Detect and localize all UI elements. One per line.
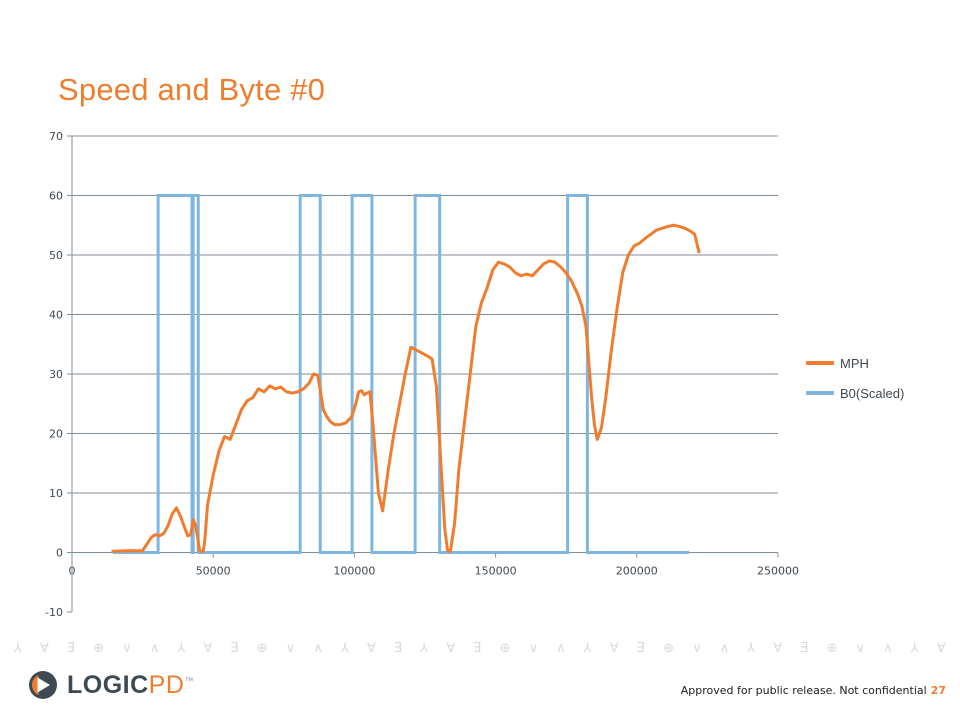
deco-glyph: ⅄ bbox=[584, 642, 592, 655]
x-tick-label: 250000 bbox=[757, 565, 799, 578]
deco-glyph: ∀ bbox=[610, 642, 619, 655]
deco-glyph: ∀ bbox=[40, 642, 49, 655]
x-tick-label: 200000 bbox=[616, 565, 658, 578]
deco-glyph: ∨ bbox=[122, 642, 132, 655]
y-tick-label: 60 bbox=[49, 190, 63, 203]
deco-glyph: ∨ bbox=[529, 642, 539, 655]
deco-glyph: ⊕ bbox=[500, 642, 511, 655]
deco-glyph: ∨ bbox=[856, 642, 866, 655]
deco-glyph: ∀ bbox=[367, 642, 376, 655]
slide: Speed and Byte #0 0500001000001500002000… bbox=[0, 0, 960, 720]
footer-note-text: Approved for public release. Not confide… bbox=[681, 684, 927, 697]
deco-glyph: ∀ bbox=[937, 642, 946, 655]
footer-note: Approved for public release. Not confide… bbox=[681, 684, 946, 697]
deco-glyph: ⅄ bbox=[911, 642, 919, 655]
deco-glyph: ⅄ bbox=[747, 642, 755, 655]
chart-y-axis-labels: -10010203040506070 bbox=[45, 130, 63, 619]
deco-glyph: ⊕ bbox=[93, 642, 104, 655]
deco-glyph: ∧ bbox=[556, 642, 566, 655]
deco-glyph: Ǝ bbox=[800, 642, 808, 655]
chart-container: 050000100000150000200000250000 -10010203… bbox=[0, 0, 960, 630]
deco-glyph: Ǝ bbox=[231, 642, 239, 655]
x-tick-label: 150000 bbox=[475, 565, 517, 578]
deco-glyph: ∧ bbox=[883, 642, 893, 655]
deco-glyph: ∀ bbox=[446, 642, 455, 655]
deco-glyph: ∀ bbox=[773, 642, 782, 655]
deco-glyph: Ǝ bbox=[394, 642, 402, 655]
chart-x-axis-labels: 050000100000150000200000250000 bbox=[69, 565, 800, 578]
deco-glyph: ∀ bbox=[204, 642, 213, 655]
y-tick-label: 30 bbox=[49, 368, 63, 381]
deco-glyph: Ǝ bbox=[473, 642, 481, 655]
deco-glyph: ⅄ bbox=[341, 642, 349, 655]
deco-glyph: ∨ bbox=[692, 642, 702, 655]
deco-glyph: ⊕ bbox=[663, 642, 674, 655]
y-tick-label: 0 bbox=[56, 547, 63, 560]
logo: LOGICPD™ bbox=[28, 670, 194, 700]
decorative-glyph-band: ⅄∀Ǝ⊕∨∧⅄∀Ǝ⊕∨∧⅄∀Ǝ⅄∀Ǝ⊕∨∧⅄∀Ǝ⊕∨∧⅄∀Ǝ⊕∨∧⅄∀ bbox=[0, 636, 960, 660]
deco-glyph: ⅄ bbox=[420, 642, 428, 655]
deco-glyph: ∧ bbox=[150, 642, 160, 655]
legend-item-b0-scaled: B0(Scaled) bbox=[806, 382, 956, 404]
logo-text: LOGICPD™ bbox=[67, 673, 194, 698]
logic-pd-mark-icon bbox=[28, 670, 58, 700]
deco-glyph: ∨ bbox=[286, 642, 296, 655]
chart-canvas: 050000100000150000200000250000 -10010203… bbox=[0, 0, 960, 630]
legend-swatch-mph bbox=[806, 361, 834, 365]
deco-glyph: Ǝ bbox=[637, 642, 645, 655]
chart-series-mph bbox=[113, 225, 699, 551]
deco-glyph: ⊕ bbox=[827, 642, 838, 655]
y-tick-label: 70 bbox=[49, 130, 63, 143]
page-number: 27 bbox=[931, 684, 946, 697]
y-tick-label: 20 bbox=[49, 428, 63, 441]
logo-primary-text: LOGIC bbox=[67, 671, 149, 699]
deco-glyph: ⅄ bbox=[177, 642, 185, 655]
x-tick-label: 50000 bbox=[196, 565, 231, 578]
chart-legend: MPH B0(Scaled) bbox=[806, 352, 956, 412]
slide-footer: LOGICPD™ Approved for public release. No… bbox=[0, 660, 960, 720]
chart-gridlines bbox=[72, 136, 778, 553]
y-tick-label: 40 bbox=[49, 309, 63, 322]
deco-glyph: ∧ bbox=[313, 642, 323, 655]
logo-trademark-icon: ™ bbox=[184, 675, 194, 685]
y-tick-label: 10 bbox=[49, 487, 63, 500]
deco-glyph: ∧ bbox=[720, 642, 730, 655]
y-tick-label: -10 bbox=[45, 606, 63, 619]
y-tick-label: 50 bbox=[49, 249, 63, 262]
deco-glyph: ⅄ bbox=[14, 642, 22, 655]
deco-glyph: ⊕ bbox=[257, 642, 268, 655]
legend-swatch-b0-scaled bbox=[806, 391, 834, 395]
legend-item-mph: MPH bbox=[806, 352, 956, 374]
legend-label-b0-scaled: B0(Scaled) bbox=[840, 386, 904, 401]
deco-glyph: Ǝ bbox=[67, 642, 75, 655]
legend-label-mph: MPH bbox=[840, 356, 869, 371]
logo-secondary-text: PD bbox=[149, 671, 185, 699]
x-tick-label: 100000 bbox=[333, 565, 375, 578]
